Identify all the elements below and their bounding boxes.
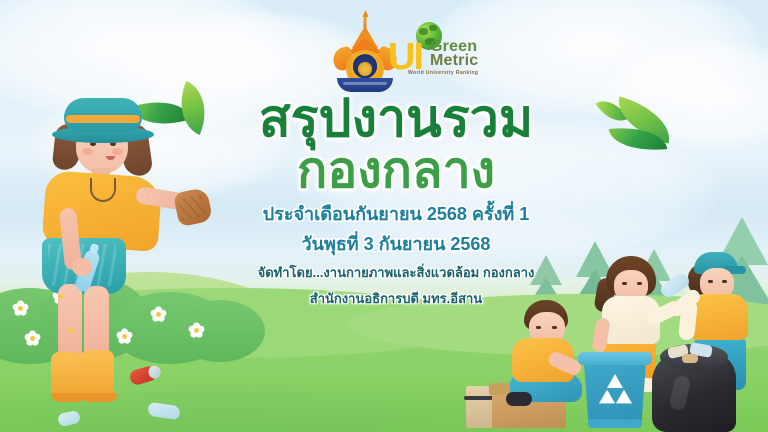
logo-row: UI Green Metric World University Ranking xyxy=(334,12,484,92)
ui-greenmetric-metric-word: Metric xyxy=(430,52,478,70)
credit-line1: จัดทำโดย...งานกายภาพและสิ่งแวดล้อม กองกล… xyxy=(186,264,606,282)
page-title-line2: กองกลาง xyxy=(186,144,606,196)
subtitle-line1: ประจำเดือนกันยายน 2568 ครั้งที่ 1 xyxy=(186,203,606,226)
recycle-symbol-icon xyxy=(596,374,634,410)
girl-picking-litter-illustration xyxy=(18,98,198,418)
page-title-line1: สรุปงานรวม xyxy=(186,92,606,146)
ui-greenmetric-logo: UI Green Metric World University Ranking xyxy=(386,22,486,80)
bag-contents xyxy=(682,354,698,363)
trash-bag xyxy=(652,336,736,432)
subtitle-line2: วันพุธที่ 3 กันยายน 2568 xyxy=(186,233,606,256)
recycle-bin xyxy=(582,352,648,430)
title-block: สรุปงานรวม กองกลาง ประจำเดือนกันยายน 256… xyxy=(186,92,606,308)
poster-canvas: UI Green Metric World University Ranking… xyxy=(0,0,768,432)
ui-greenmetric-tagline: World University Ranking xyxy=(408,70,478,76)
